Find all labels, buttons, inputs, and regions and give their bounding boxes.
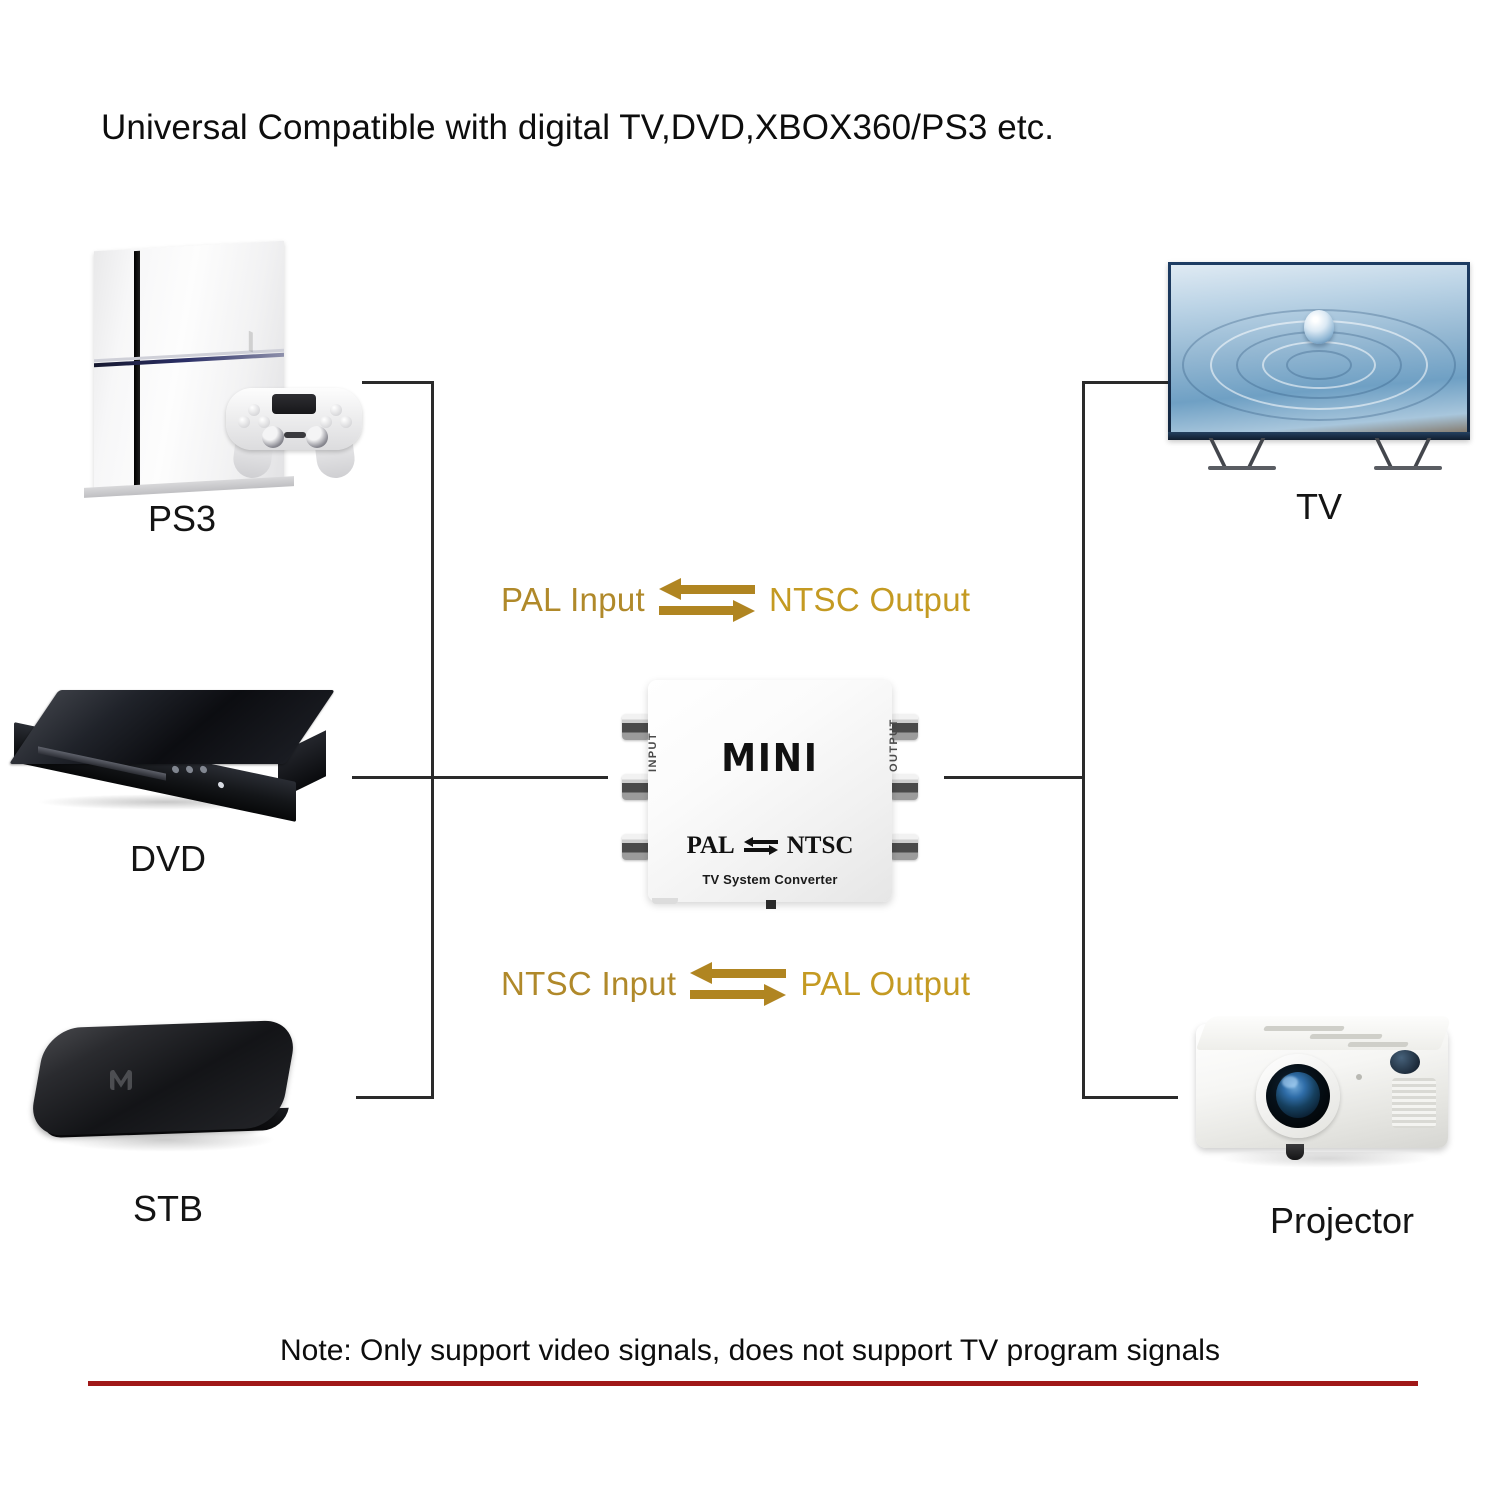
tv-foot-right (1374, 466, 1442, 470)
rca-input-port-3 (622, 834, 650, 860)
projector-lens-highlight (1282, 1076, 1298, 1088)
footer-note: Note: Only support video signals, does n… (0, 1334, 1500, 1368)
tv-screen (1171, 265, 1467, 437)
converter-subtitle: TV System Converter (648, 872, 892, 887)
converter-input-label: INPUT (647, 732, 659, 772)
projector-front-foot (1286, 1144, 1304, 1160)
wire-tv-branch (1082, 381, 1168, 384)
tv-bezel (1168, 262, 1470, 440)
controller-stick-right (306, 426, 328, 448)
tv-leg-right-b (1413, 438, 1432, 468)
wire-projector-branch (1082, 1096, 1178, 1099)
projector-top-vent-2 (1309, 1034, 1383, 1039)
wire-ps3-branch (362, 381, 434, 384)
dvd-led-indicator (218, 781, 224, 788)
tv-leg-right-a (1375, 438, 1394, 468)
rca-input-port-1 (622, 714, 650, 740)
converter-output-label: OUTPUT (888, 718, 900, 772)
wire-right-trunk (1082, 381, 1085, 1099)
rca-input-port-2 (622, 774, 650, 800)
projector-side-vent (1392, 1078, 1436, 1128)
double-arrow-icon (690, 962, 786, 1006)
projector-shadow (1218, 1152, 1434, 1168)
controller-touchpad (272, 394, 316, 414)
rca-output-port-2 (890, 774, 918, 800)
converter-standards-row: PAL NTSC (648, 832, 892, 860)
controller-btn-circle (340, 416, 352, 428)
device-label-ps3: PS3 (92, 498, 272, 540)
controller-stick-left (262, 426, 284, 448)
page-title: Universal Compatible with digital TV,DVD… (101, 108, 1054, 148)
device-label-tv: TV (1229, 486, 1409, 528)
device-ps3 (72, 246, 372, 508)
stb-top-shell (28, 1020, 299, 1137)
device-stb (28, 1020, 328, 1180)
flow-input-label-top: PAL Input (501, 581, 645, 619)
converter-standard-right: NTSC (787, 832, 854, 860)
device-label-stb: STB (78, 1188, 258, 1230)
projector-top-face (1196, 1016, 1452, 1050)
tv-leg-left-a (1209, 438, 1228, 468)
controller-dpad-up (248, 404, 260, 416)
wire-left-trunk (431, 381, 434, 1099)
controller-dpad-left (238, 416, 250, 428)
device-converter: MINI PAL NTSC TV System Converter INPUT … (600, 662, 940, 924)
tv-leg-left-b (1247, 438, 1266, 468)
device-tv (1168, 262, 1470, 476)
projector-ir-sensor-icon (1390, 1050, 1420, 1074)
wire-output-to-converter (944, 776, 1084, 779)
flow-input-label-bottom: NTSC Input (501, 965, 676, 1003)
double-arrow-icon (659, 578, 755, 622)
tv-water-droplet (1304, 310, 1334, 344)
projector-status-led (1356, 1074, 1362, 1080)
converter-power-connector (766, 900, 776, 909)
ps3-controller (226, 374, 362, 478)
flow-ntsc-to-pal: NTSC Input PAL Output (501, 962, 970, 1006)
projector-top-vent-3 (1347, 1042, 1409, 1047)
flow-output-label-bottom: PAL Output (800, 965, 970, 1003)
tv-foot-left (1208, 466, 1276, 470)
wire-stb-branch (356, 1096, 434, 1099)
wire-input-to-converter (352, 776, 608, 779)
projector-top-vent-1 (1263, 1026, 1345, 1031)
tv-ripple-5 (1286, 350, 1352, 380)
converter-brand-text: MINI (658, 736, 882, 780)
controller-home-bar (284, 432, 306, 438)
flow-pal-to-ntsc: PAL Input NTSC Output (501, 578, 970, 622)
device-label-projector: Projector (1232, 1200, 1452, 1242)
ps3-disc-slot (134, 251, 140, 487)
footer-divider (88, 1381, 1418, 1386)
bidirectional-arrow-icon (744, 837, 778, 855)
converter-bottom-lip (652, 898, 678, 904)
controller-btn-triangle (330, 404, 342, 416)
converter-shell: MINI PAL NTSC TV System Converter (648, 680, 892, 902)
device-projector (1178, 1006, 1478, 1196)
device-dvd (10, 690, 340, 840)
rca-output-port-3 (890, 834, 918, 860)
converter-standard-left: PAL (687, 832, 735, 860)
flow-output-label-top: NTSC Output (769, 581, 970, 619)
device-label-dvd: DVD (78, 838, 258, 880)
